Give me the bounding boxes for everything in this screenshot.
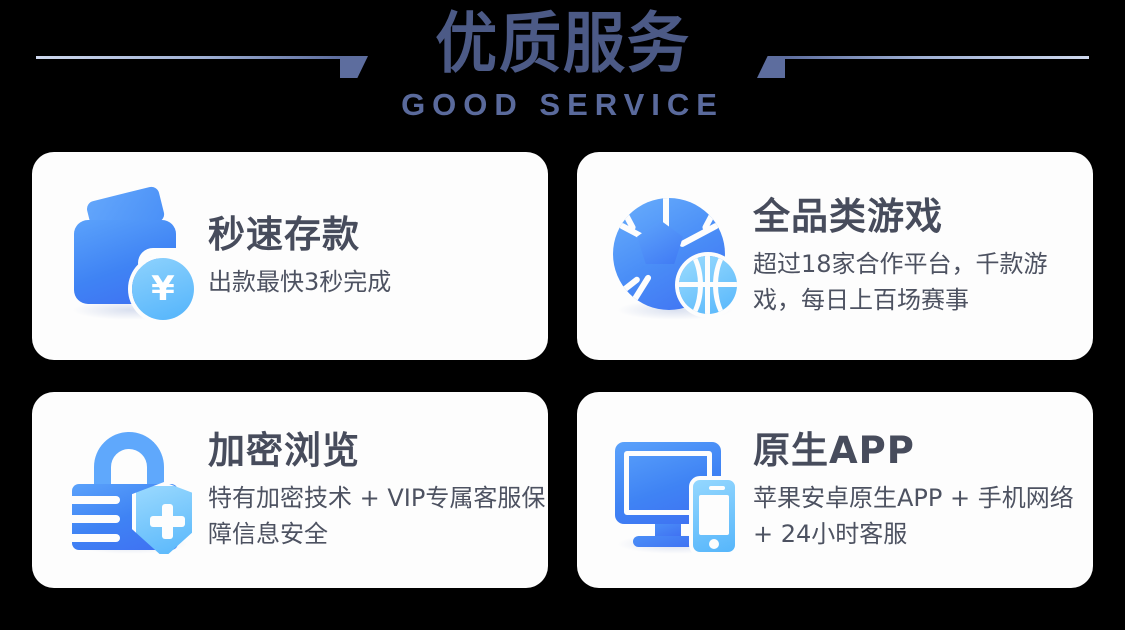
card-title: 原生APP: [753, 429, 1093, 473]
card-description: 超过18家合作平台，千款游戏，每日上百场赛事: [753, 246, 1093, 318]
feature-card-encrypted-browsing[interactable]: 加密浏览 特有加密技术 + VIP专属客服保障信息安全: [32, 392, 548, 588]
page-header: 优质服务 GOOD SERVICE: [0, 0, 1125, 145]
card-title: 加密浏览: [208, 429, 548, 473]
yen-coin-icon: ¥: [132, 258, 194, 320]
feature-card-native-app[interactable]: 原生APP 苹果安卓原生APP + 手机网络 + 24小时客服: [577, 392, 1093, 588]
mobile-phone: [689, 476, 739, 556]
soccer-basketball-icon: [605, 186, 745, 326]
page-title: 优质服务: [435, 6, 691, 82]
monitor-phone-icon: [605, 420, 745, 560]
basketball: [679, 256, 737, 314]
feature-card-instant-deposit[interactable]: ¥ 秒速存款 出款最快3秒完成: [32, 152, 548, 360]
lock-shield-icon: [60, 420, 200, 560]
card-description: 出款最快3秒完成: [208, 264, 391, 300]
card-description: 苹果安卓原生APP + 手机网络 + 24小时客服: [753, 480, 1093, 552]
feature-card-grid: ¥ 秒速存款 出款最快3秒完成: [32, 152, 1093, 588]
card-title: 全品类游戏: [753, 195, 1093, 239]
card-description: 特有加密技术 + VIP专属客服保障信息安全: [208, 480, 548, 552]
page-subtitle: GOOD SERVICE: [401, 88, 724, 122]
good-service-banner: 优质服务 GOOD SERVICE ¥ 秒速存款 出款最快3秒完成: [0, 0, 1125, 630]
card-title: 秒速存款: [208, 213, 391, 257]
feature-card-all-category-games[interactable]: 全品类游戏 超过18家合作平台，千款游戏，每日上百场赛事: [577, 152, 1093, 360]
wallet-coin-icon: ¥: [60, 186, 200, 326]
